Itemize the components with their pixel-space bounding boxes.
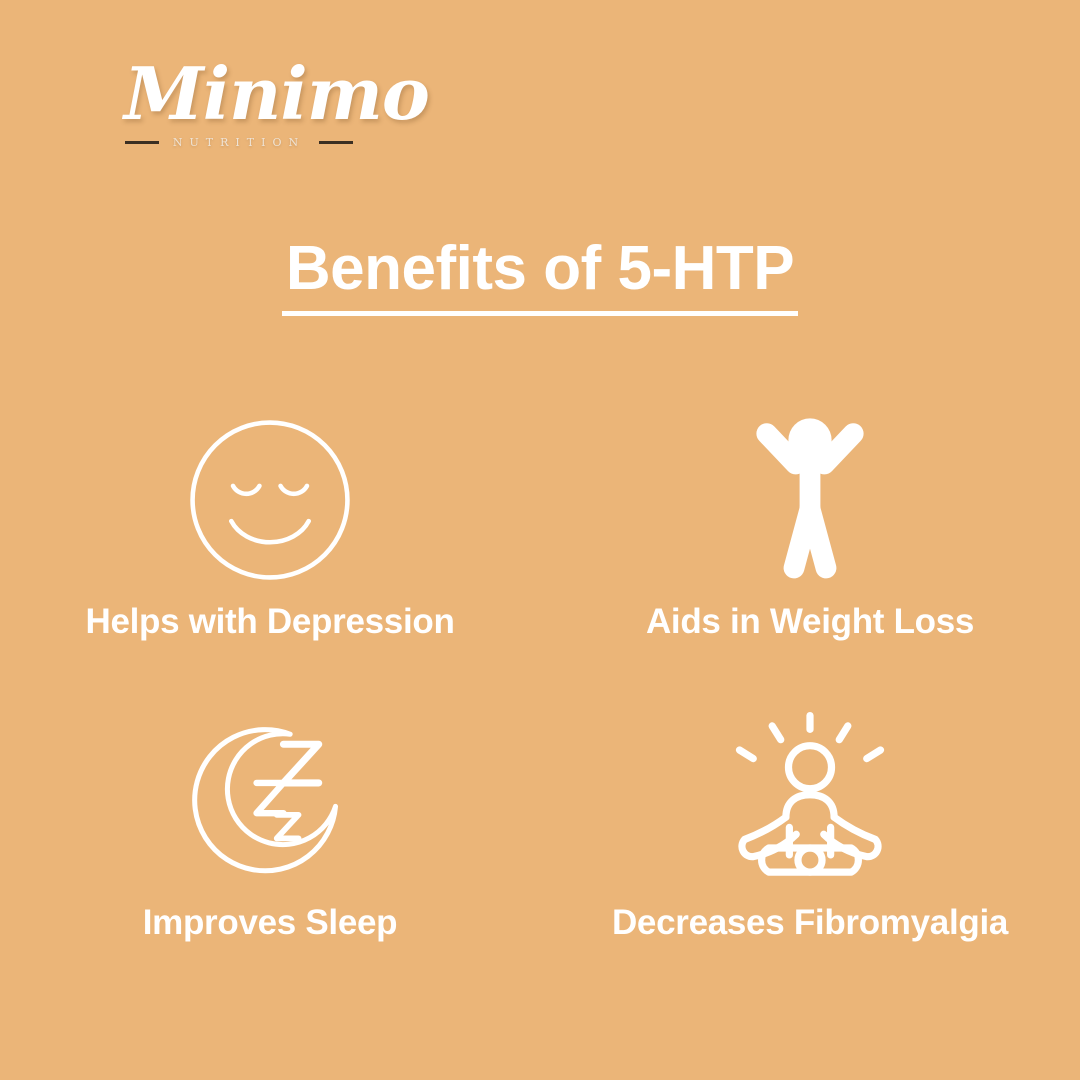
- page-title: Benefits of 5-HTP: [282, 236, 798, 316]
- benefit-label: Improves Sleep: [143, 903, 398, 943]
- page-title-container: Benefits of 5-HTP: [0, 236, 1080, 316]
- benefits-grid: Helps with Depression Aids in Weight Los…: [0, 410, 1080, 990]
- benefit-item-sleep: Improves Sleep: [0, 700, 540, 990]
- smiley-face-icon: [182, 410, 358, 590]
- brand-logo: Minimo NUTRITION: [118, 58, 358, 168]
- benefit-label: Decreases Fibromyalgia: [612, 903, 1008, 943]
- brand-tagline-row: NUTRITION: [118, 136, 358, 149]
- benefit-item-weight-loss: Aids in Weight Loss: [540, 410, 1080, 700]
- benefit-item-depression: Helps with Depression: [0, 410, 540, 700]
- brand-name: Minimo: [118, 58, 358, 130]
- crescent-moon-zzz-icon: [186, 700, 354, 885]
- person-arms-raised-icon: [754, 410, 866, 590]
- benefit-item-fibromyalgia: Decreases Fibromyalgia: [540, 700, 1080, 990]
- logo-dash-right: [319, 141, 353, 144]
- benefit-label: Helps with Depression: [85, 602, 454, 642]
- meditating-person-icon: [720, 700, 900, 885]
- benefit-label: Aids in Weight Loss: [646, 602, 974, 642]
- brand-tagline: NUTRITION: [173, 136, 305, 149]
- logo-dash-left: [125, 141, 159, 144]
